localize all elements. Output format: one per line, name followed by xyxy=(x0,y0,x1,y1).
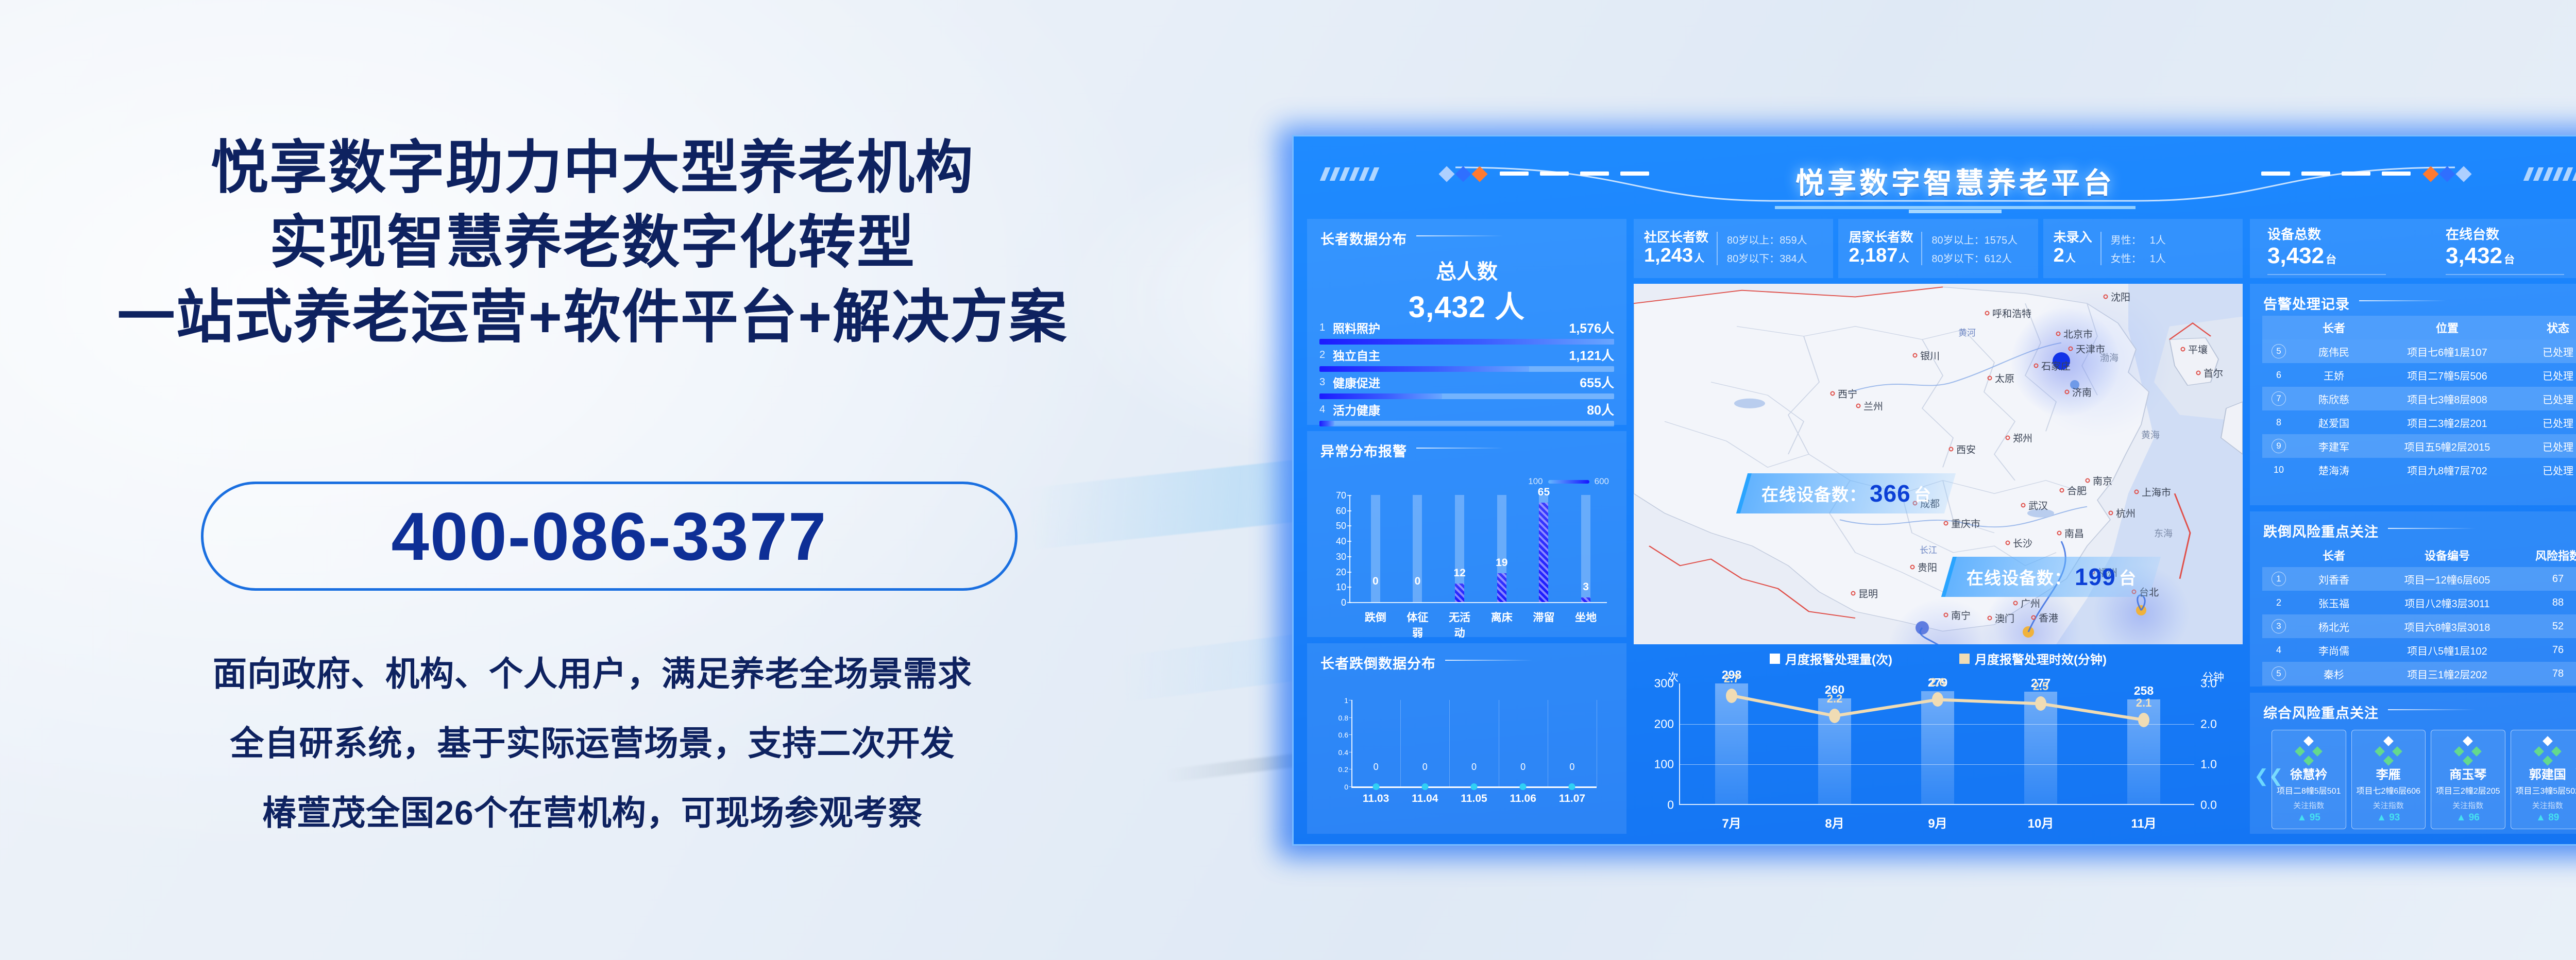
map-city-dot-icon xyxy=(2181,347,2185,352)
y-axis-tick: 0 xyxy=(1323,597,1346,608)
y-axis-tick: 30 xyxy=(1323,552,1346,562)
bar-group[interactable]: 65 xyxy=(1529,495,1558,602)
map-callout-online-devices-1: 在线设备数： 366 台 xyxy=(1736,473,1956,513)
diamond-cluster-icon xyxy=(2513,736,2576,761)
kpi-label: 社区长者数 xyxy=(1644,230,1708,245)
y-axis-tick: 70 xyxy=(1323,490,1346,501)
cell-location: 项目二7幢5层506 xyxy=(2372,368,2522,383)
map-city-label: 石家庄 xyxy=(2041,359,2071,373)
panel-elder-distribution: 长者数据分布 总人数 3,432 人 1 照料照护 1,576人 2 独立自主 xyxy=(1307,219,1626,425)
card-index-label: 关注指数 xyxy=(2274,800,2344,811)
cell-status: 已处理 xyxy=(2522,462,2576,477)
map-city-label: 兰州 xyxy=(1863,399,1883,413)
map-city-label: 沈阳 xyxy=(2111,290,2130,304)
table-row[interactable]: 2 张玉福 项目八2幢3层3011 88 xyxy=(2262,591,2576,614)
legend-gradient-bar xyxy=(1548,480,1589,484)
map-city-dot-icon xyxy=(2006,540,2010,545)
bar-group[interactable]: 12 xyxy=(1445,495,1475,602)
cell-device-id: 项目六8幢3层3018 xyxy=(2372,619,2522,634)
rank-index: 3 xyxy=(1319,376,1327,388)
callout-1-unit: 台 xyxy=(1914,481,1931,506)
phone-cta-button[interactable]: 400-086-3377 xyxy=(201,482,1018,591)
cell-status: 已处理 xyxy=(2522,439,2576,454)
table-header-row: 长者 设备编号 风险指数 xyxy=(2262,543,2576,567)
y-axis-tick-left: 100 xyxy=(1654,758,1674,772)
x-axis-label: 离床 xyxy=(1487,609,1517,640)
bar-group[interactable]: 19 xyxy=(1487,495,1517,602)
data-point[interactable] xyxy=(1421,783,1428,790)
data-point[interactable] xyxy=(2138,713,2149,727)
device-kpi-value: 3,432台 xyxy=(2267,243,2428,269)
card-score: ▲ 93 xyxy=(2354,812,2424,824)
map-city-label: 北京市 xyxy=(2063,327,2093,340)
cell-elder-name: 杨北光 xyxy=(2295,619,2372,634)
y-axis-tick: 0.6 xyxy=(1323,731,1348,739)
row-index: 6 xyxy=(2262,370,2295,381)
table-row[interactable]: 8 赵爱国 项目二3幢2层201 已处理 xyxy=(2262,410,2576,434)
list-item[interactable]: 3 健康促进 655人 xyxy=(1319,374,1614,399)
map-city-label: 上海市 xyxy=(2142,485,2171,499)
table-row[interactable]: 3 杨北光 项目六8幢3层3018 52 xyxy=(2262,614,2576,638)
kpi-label: 居家长者数 xyxy=(1849,230,1913,245)
rank-index: 1 xyxy=(1319,322,1327,334)
bar-fill xyxy=(1581,597,1590,602)
y-axis-tick: 0.8 xyxy=(1323,714,1348,722)
rank-value: 655人 xyxy=(1580,373,1614,391)
marketing-copy: 悦享数字助力中大型养老机构 实现智慧养老数字化转型 一站式养老运营+软件平台+解… xyxy=(0,0,1185,960)
card-index-label: 关注指数 xyxy=(2433,800,2503,811)
x-axis-label: 坐地 xyxy=(1571,609,1601,640)
elder-distribution-bars: 1 照料照护 1,576人 2 独立自主 1,121人 xyxy=(1319,320,1614,429)
total-people-label: 总人数 xyxy=(1307,255,1626,285)
kpi-value: 2人 xyxy=(2054,245,2092,267)
rank-bar-fill xyxy=(1319,366,1529,372)
rank-value: 1,121人 xyxy=(1569,346,1614,364)
subline-1: 面向政府、机构、个人用户，满足养老全场景需求 xyxy=(0,646,1185,696)
y-axis-tick: 0 xyxy=(1323,783,1348,791)
cell-elder-name: 秦杉 xyxy=(2295,666,2372,681)
phone-number: 400-086-3377 xyxy=(391,498,827,575)
table-row[interactable]: 1 刘香香 项目一12幢6层605 67 xyxy=(2262,567,2576,591)
rank-label: 照料照护 xyxy=(1333,319,1380,336)
subline-3: 椿萱茂全国26个在营机构，可现场参观考察 xyxy=(0,785,1185,835)
map-city-label: 南昌 xyxy=(2064,526,2084,540)
data-point-label: 2.7 xyxy=(1724,672,1740,685)
map-city-label: 武汉 xyxy=(2028,498,2048,512)
bar-group[interactable]: 0 xyxy=(1402,495,1432,602)
table-row[interactable]: 4 李尚儒 项目八5幢1层102 76 xyxy=(2262,638,2576,662)
map-city-dot-icon xyxy=(1913,353,1918,357)
data-point[interactable] xyxy=(1726,689,1737,703)
table-row[interactable]: 10 楚海涛 项目九8幢7层702 已处理 xyxy=(2262,458,2576,482)
cell-elder-name: 赵爱国 xyxy=(2295,415,2372,430)
bar-fill xyxy=(1497,573,1506,602)
map-sea-label: 东海 xyxy=(2154,526,2173,540)
overall-risk-cards: 徐慧衿 项目二8幢5层501 关注指数 ▲ 95 李雁 项目七2幢6层606 关… xyxy=(2272,730,2576,829)
device-kpi-label: 在线台数 xyxy=(2446,224,2576,243)
kpi-value: 1,243人 xyxy=(1644,245,1708,267)
y-axis-tick: 10 xyxy=(1323,582,1346,593)
dashboard-header: 悦享数字智慧养老平台 xyxy=(1294,136,2576,214)
map-city-label: 西宁 xyxy=(1838,387,1857,401)
map-city-label: 南京 xyxy=(2093,473,2112,487)
callout-2-unit: 台 xyxy=(2119,564,2137,589)
panel-title-abnormal-alarm: 异常分布报警 xyxy=(1320,440,1407,460)
cell-risk-index: 76 xyxy=(2522,644,2576,656)
map-city-label: 长沙 xyxy=(2013,536,2032,550)
callout-1-label: 在线设备数： xyxy=(1761,481,1867,506)
kpi-card[interactable]: 社区长者数 1,243人 80岁以上：859人80岁以下：384人 xyxy=(1634,219,1833,278)
kpi-sub-row: 女性：1人 xyxy=(2111,250,2166,265)
cell-status: 已处理 xyxy=(2522,415,2576,430)
card-index-label: 关注指数 xyxy=(2354,800,2424,811)
map-city-label: 广州 xyxy=(2021,596,2040,610)
map-city-dot-icon xyxy=(1949,447,1954,452)
y-axis-tick: 20 xyxy=(1323,567,1346,578)
x-axis-label: 8月 xyxy=(1825,813,1844,831)
bar-value-label: 19 xyxy=(1496,557,1507,569)
map-city-label: 太原 xyxy=(1995,371,2014,385)
rank-bar-fill xyxy=(1319,339,1614,345)
panel-overall-risk: 综合风险重点关注 ❮❮ ❯❯ 徐慧衿 项目二8幢5层501 关注指数 ▲ 95 … xyxy=(2250,693,2576,834)
kpi-strip: 社区长者数 1,243人 80岁以上：859人80岁以下：384人 居家长者数 … xyxy=(1634,219,2243,278)
row-index: 5 xyxy=(2262,344,2295,358)
cell-risk-index: 52 xyxy=(2522,621,2576,632)
map-city-label: 西安 xyxy=(1956,442,1976,456)
device-kpi-card[interactable]: 在线台数 3,432台 xyxy=(2428,219,2576,278)
data-point-label: 0 xyxy=(1422,762,1428,773)
kpi-sub-row: 80岁以下：612人 xyxy=(1931,250,2018,265)
map-city-dot-icon xyxy=(2196,371,2201,375)
panel-title-overall-risk: 综合风险重点关注 xyxy=(2263,702,2379,722)
card-location: 项目三2幢2层205 xyxy=(2433,784,2503,796)
bar-fill[interactable] xyxy=(1921,691,1954,804)
map-city-dot-icon xyxy=(1910,565,1915,570)
diamond-cluster-icon xyxy=(2354,736,2424,761)
cell-location: 项目七6幢1层107 xyxy=(2372,344,2522,359)
map-city-dot-icon xyxy=(2065,390,2070,395)
map-city-label: 呼和浩特 xyxy=(1992,306,2031,320)
map-city-label: 合肥 xyxy=(2067,483,2087,497)
list-item[interactable]: 1 照料照护 1,576人 xyxy=(1319,320,1614,345)
map-city-dot-icon xyxy=(1988,616,1992,621)
map-city-label: 郑州 xyxy=(2013,431,2032,445)
map-city-dot-icon xyxy=(2104,295,2108,299)
panel-fall-distribution: 长者跌倒数据分布 00.20.40.60.81011.03011.04011.0… xyxy=(1307,643,1626,834)
card-score: ▲ 96 xyxy=(2433,812,2503,824)
data-point-label: 0 xyxy=(1520,762,1526,773)
rank-bar-fill xyxy=(1319,421,1334,426)
cell-location: 项目五5幢2层2015 xyxy=(2372,439,2522,454)
device-kpi-value: 3,432台 xyxy=(2446,243,2576,269)
kpi-card[interactable]: 居家长者数 2,187人 80岁以上：1575人80岁以下：612人 xyxy=(1838,219,2038,278)
x-axis-label: 无活动 xyxy=(1445,609,1475,640)
legend-label: 月度报警处理量(次) xyxy=(1785,649,1892,667)
data-point[interactable] xyxy=(1569,783,1575,790)
column-header: 长者 xyxy=(2295,547,2372,563)
x-axis-label: 11.07 xyxy=(1559,793,1585,805)
y-axis-tick: 0.2 xyxy=(1323,765,1348,774)
map-city-dot-icon xyxy=(1988,376,1992,381)
dashboard-screen: 悦享数字智慧养老平台 长者数据分布 总人数 3,432 人 1 照料照护 1,5… xyxy=(1292,135,2576,846)
rank-label: 健康促进 xyxy=(1333,373,1380,391)
panel-fall-risk: 跌倒风险重点关注 长者 设备编号 风险指数 1 刘香香 项目一12幢6层605 … xyxy=(2250,511,2576,687)
rank-label: 独立自主 xyxy=(1333,346,1380,364)
table-header-row: 长者 位置 状态 xyxy=(2262,316,2576,339)
y-axis-tick: 0.4 xyxy=(1323,748,1348,757)
bar-value-label: 3 xyxy=(1583,581,1589,593)
rank-label: 活力健康 xyxy=(1333,401,1380,418)
map-city-label: 首尔 xyxy=(2204,366,2223,380)
data-point[interactable] xyxy=(1471,783,1478,790)
panel-alarm-records: 告警处理记录 长者 位置 状态 5 庞伟民 项目七6幢1层107 已处理 6 王… xyxy=(2250,284,2576,505)
cell-elder-name: 庞伟民 xyxy=(2295,344,2372,359)
cell-risk-index: 67 xyxy=(2522,573,2576,585)
data-point[interactable] xyxy=(1829,709,1840,723)
data-point-label: 0 xyxy=(1374,762,1379,773)
map-city-dot-icon xyxy=(2109,511,2113,516)
card-location: 项目二8幢5层501 xyxy=(2274,784,2344,796)
map-city-dot-icon xyxy=(2134,490,2139,494)
card-location: 项目七2幢6层606 xyxy=(2354,784,2424,796)
risk-focus-card[interactable]: 商玉琴 项目三2幢2层205 关注指数 ▲ 96 xyxy=(2431,730,2505,829)
map-city-label: 昆明 xyxy=(1858,587,1878,601)
cell-device-id: 项目一12幢6层605 xyxy=(2372,572,2522,587)
data-point-label: 2.5 xyxy=(2033,680,2049,693)
legend-item[interactable]: 月度报警处理量(次) xyxy=(1770,649,1892,667)
panel-title-fall-risk: 跌倒风险重点关注 xyxy=(2263,521,2379,541)
y-axis-tick: 1 xyxy=(1323,696,1348,705)
device-kpi-card[interactable]: 设备总数 3,432台 xyxy=(2250,219,2428,278)
map-city-label: 澳门 xyxy=(1995,611,2014,625)
map-city-dot-icon xyxy=(1831,391,1835,396)
cell-device-id: 项目三1幢2层202 xyxy=(2372,666,2522,681)
panel-title-alarm-records: 告警处理记录 xyxy=(2263,293,2350,313)
cell-risk-index: 78 xyxy=(2522,668,2576,680)
table-row[interactable]: 5 庞伟民 项目七6幢1层107 已处理 xyxy=(2262,339,2576,363)
card-score: ▲ 95 xyxy=(2274,812,2344,824)
table-row[interactable]: 7 陈欣慈 项目七3幢8层808 已处理 xyxy=(2262,387,2576,410)
cell-status: 已处理 xyxy=(2522,344,2576,359)
map-city-label: 杭州 xyxy=(2116,506,2136,520)
legend-max-value: 600 xyxy=(1595,476,1609,487)
rank-value: 1,576人 xyxy=(1569,318,1614,337)
risk-focus-card[interactable]: 郭建国 项目三3幢5层502 关注指数 ▲ 89 xyxy=(2511,730,2576,829)
panel-abnormal-alarm: 异常分布报警 100 600 010203040506070 0 0 12 19 xyxy=(1307,431,1626,637)
callout-2-label: 在线设备数： xyxy=(1967,564,2072,589)
kpi-value: 2,187人 xyxy=(1849,245,1913,267)
row-index: 8 xyxy=(2262,417,2295,428)
bar-group[interactable]: 0 xyxy=(1361,495,1391,602)
subline-2: 全自研系统，基于实际运营场景，支持二次开发 xyxy=(0,716,1185,765)
device-kpi-label: 设备总数 xyxy=(2267,224,2428,243)
panel-title-fall-distribution: 长者跌倒数据分布 xyxy=(1320,653,1436,673)
rank-bar-track xyxy=(1319,366,1614,372)
map-city-dot-icon xyxy=(2034,364,2039,368)
data-point-label: 2.1 xyxy=(2136,696,2152,710)
x-axis-label: 9月 xyxy=(1928,813,1947,831)
cell-location: 项目七3幢8层808 xyxy=(2372,391,2522,406)
x-axis-label: 11.05 xyxy=(1461,793,1487,805)
fall-distribution-chart: 00.20.40.60.81011.03011.04011.05011.0601… xyxy=(1323,700,1611,803)
monthly-alarm-legend: 月度报警处理量(次) 月度报警处理时效(分钟) xyxy=(1634,649,2243,667)
row-index: 5 xyxy=(2262,666,2295,681)
list-item[interactable]: 2 独立自主 1,121人 xyxy=(1319,347,1614,372)
cell-location: 项目九8幢7层702 xyxy=(2372,462,2522,477)
legend-min-value: 100 xyxy=(1528,476,1543,487)
row-index: 9 xyxy=(2262,439,2295,453)
headline-line-1: 悦享数字助力中大型养老机构 xyxy=(0,131,1185,204)
row-index: 10 xyxy=(2262,465,2295,475)
card-location: 项目三3幢5层502 xyxy=(2513,784,2576,796)
legend-item[interactable]: 月度报警处理时效(分钟) xyxy=(1959,649,2107,667)
rank-index: 2 xyxy=(1319,349,1327,361)
bar-value-label: 12 xyxy=(1453,567,1465,579)
x-axis-label: 11.06 xyxy=(1510,793,1536,805)
table-row[interactable]: 5 秦杉 项目三1幢2层202 78 xyxy=(2262,662,2576,685)
y-axis-tick-right: 1.0 xyxy=(2200,758,2217,772)
diamond-cluster-icon xyxy=(2433,736,2503,761)
x-axis-label: 11.03 xyxy=(1363,793,1389,805)
map-river-label: 黄河 xyxy=(1958,325,1976,338)
legend-swatch xyxy=(1770,654,1780,664)
monthly-alarm-plot: 01002003000.01.02.03.02987月2608月2799月277… xyxy=(1679,683,2194,805)
abnormal-alarm-chart: 010203040506070 0 0 12 19 65 3 跌倒体征弱无 xyxy=(1323,495,1611,624)
map-city-label: 济南 xyxy=(2072,385,2092,399)
map-city-dot-icon xyxy=(1856,403,1861,408)
cell-device-id: 项目八5幢1层102 xyxy=(2372,643,2522,658)
map-city-dot-icon xyxy=(1944,612,1948,617)
abnormal-legend-scale: 100 600 xyxy=(1528,476,1609,487)
rank-index: 4 xyxy=(1319,404,1327,416)
table-row[interactable]: 6 王娇 项目二7幢5层506 已处理 xyxy=(2262,363,2576,387)
x-axis-label: 滞留 xyxy=(1529,609,1558,640)
rank-bar-fill xyxy=(1319,393,1442,399)
map-callout-online-devices-2: 在线设备数： 199 台 xyxy=(1941,557,2161,597)
map-city-label: 平壤 xyxy=(2188,342,2208,356)
list-item[interactable]: 4 活力健康 80人 xyxy=(1319,402,1614,426)
map-river-label: 长江 xyxy=(1920,543,1937,556)
bar-fill xyxy=(1539,503,1548,602)
y-axis-tick-left: 200 xyxy=(1654,717,1674,731)
cell-status: 已处理 xyxy=(2522,368,2576,383)
map-city-dot-icon xyxy=(2006,436,2010,440)
alarm-records-table[interactable]: 长者 位置 状态 5 庞伟民 项目七6幢1层107 已处理 6 王娇 项目二7幢… xyxy=(2262,316,2576,482)
y-axis-tick-left: 0 xyxy=(1667,798,1674,812)
row-index: 1 xyxy=(2262,572,2295,586)
data-point-label: 2.6 xyxy=(1930,676,1946,689)
map-city-dot-icon xyxy=(2086,478,2090,483)
map-city-label: 贵阳 xyxy=(1918,560,1937,574)
y-axis-tick-right: 0.0 xyxy=(2200,798,2217,812)
cell-elder-name: 李尚儒 xyxy=(2295,643,2372,658)
device-kpi-strip: 设备总数 3,432台 在线台数 3,432台 xyxy=(2250,219,2576,278)
map-city-label: 香港 xyxy=(2039,610,2058,624)
row-index: 7 xyxy=(2262,391,2295,406)
data-point[interactable] xyxy=(2035,696,2046,711)
table-row[interactable]: 9 李建军 项目五5幢2层2015 已处理 xyxy=(2262,434,2576,458)
card-index-label: 关注指数 xyxy=(2513,800,2576,811)
map-city-dot-icon xyxy=(1944,521,1948,525)
map-city-dot-icon xyxy=(2056,331,2061,336)
risk-focus-card[interactable]: 徐慧衿 项目二8幢5层501 关注指数 ▲ 95 xyxy=(2272,730,2346,829)
map-city-label: 银川 xyxy=(1920,348,1940,362)
data-point[interactable] xyxy=(1372,783,1379,790)
cell-elder-name: 张玉福 xyxy=(2295,595,2372,610)
map-city-dot-icon xyxy=(2013,601,2018,606)
map-city-dot-icon xyxy=(2031,615,2036,620)
map-city-label: 重庆市 xyxy=(1951,516,1980,530)
data-point[interactable] xyxy=(1520,783,1527,790)
headline-line-3: 一站式养老运营+软件平台+解决方案 xyxy=(0,281,1185,353)
column-header: 风险指数 xyxy=(2522,547,2576,563)
legend-label: 月度报警处理时效(分钟) xyxy=(1975,649,2107,667)
bar-value-label: 0 xyxy=(1415,575,1421,588)
map-city-dot-icon xyxy=(2057,530,2062,535)
cell-elder-name: 楚海涛 xyxy=(2295,462,2372,477)
data-point-label: 0 xyxy=(1471,762,1477,773)
map-city-label: 南宁 xyxy=(1951,608,1971,622)
fall-risk-table[interactable]: 长者 设备编号 风险指数 1 刘香香 项目一12幢6层605 67 2 张玉福 … xyxy=(2262,543,2576,685)
y-axis-tick-left: 300 xyxy=(1654,677,1674,691)
row-index: 2 xyxy=(2262,597,2295,608)
x-axis-label: 11月 xyxy=(2131,813,2156,831)
risk-focus-card[interactable]: 李雁 项目七2幢6层606 关注指数 ▲ 93 xyxy=(2351,730,2426,829)
card-score: ▲ 89 xyxy=(2513,812,2576,824)
monthly-alarm-chart: 月度报警处理量(次) 月度报警处理时效(分钟) 次 分钟 01002003000… xyxy=(1634,649,2243,834)
x-axis-label: 体征弱 xyxy=(1402,609,1432,640)
callout-1-value: 366 xyxy=(1870,479,1911,507)
rank-bar-track xyxy=(1319,339,1614,345)
cell-elder-name: 李建军 xyxy=(2295,439,2372,454)
column-header: 长者 xyxy=(2295,319,2372,336)
kpi-sub-row: 80岁以上：859人 xyxy=(1727,232,1807,247)
row-index: 4 xyxy=(2262,645,2295,656)
data-point-label: 0 xyxy=(1569,762,1574,773)
kpi-sub-row: 80岁以上：1575人 xyxy=(1931,232,2018,247)
rank-value: 80人 xyxy=(1587,400,1614,419)
x-axis-label: 11.04 xyxy=(1412,793,1438,805)
cell-elder-name: 王娇 xyxy=(2295,368,2372,383)
x-axis-label: 10月 xyxy=(2028,813,2054,831)
map-sea-label: 渤海 xyxy=(2100,351,2119,364)
kpi-sub-row: 80岁以下：384人 xyxy=(1727,250,1807,265)
x-axis-label: 跌倒 xyxy=(1361,609,1391,640)
rank-bar-track xyxy=(1319,393,1614,399)
map-city-dot-icon xyxy=(2069,347,2073,351)
cell-elder-name: 陈欣慈 xyxy=(2295,391,2372,406)
panel-title-elder-distribution: 长者数据分布 xyxy=(1320,228,1407,248)
kpi-card[interactable]: 未录入 2人 男性：1人女性：1人 xyxy=(2043,219,2243,278)
y-axis-tick: 40 xyxy=(1323,536,1346,547)
map-city-dot-icon xyxy=(2021,503,2026,507)
card-elder-name: 李雁 xyxy=(2354,764,2424,782)
cell-location: 项目二3幢2层201 xyxy=(2372,415,2522,430)
bar-group[interactable]: 3 xyxy=(1571,495,1601,602)
cell-device-id: 项目八2幢3层3011 xyxy=(2372,595,2522,610)
x-axis-label: 7月 xyxy=(1722,813,1741,831)
headline-line-2: 实现智慧养老数字化转型 xyxy=(0,206,1185,279)
column-header: 状态 xyxy=(2522,319,2576,336)
column-header: 设备编号 xyxy=(2372,547,2522,563)
cell-risk-index: 88 xyxy=(2522,597,2576,609)
map-city-dot-icon xyxy=(1851,591,1856,596)
cell-status: 已处理 xyxy=(2522,391,2576,406)
bar-value-label: 0 xyxy=(1372,575,1379,588)
callout-2-value: 199 xyxy=(2075,563,2116,591)
data-point[interactable] xyxy=(1932,692,1943,707)
china-map[interactable]: 沈阳呼和浩特北京市天津市石家庄太原济南银川西宁兰州郑州西安南京合肥上海市杭州武汉… xyxy=(1634,284,2243,644)
